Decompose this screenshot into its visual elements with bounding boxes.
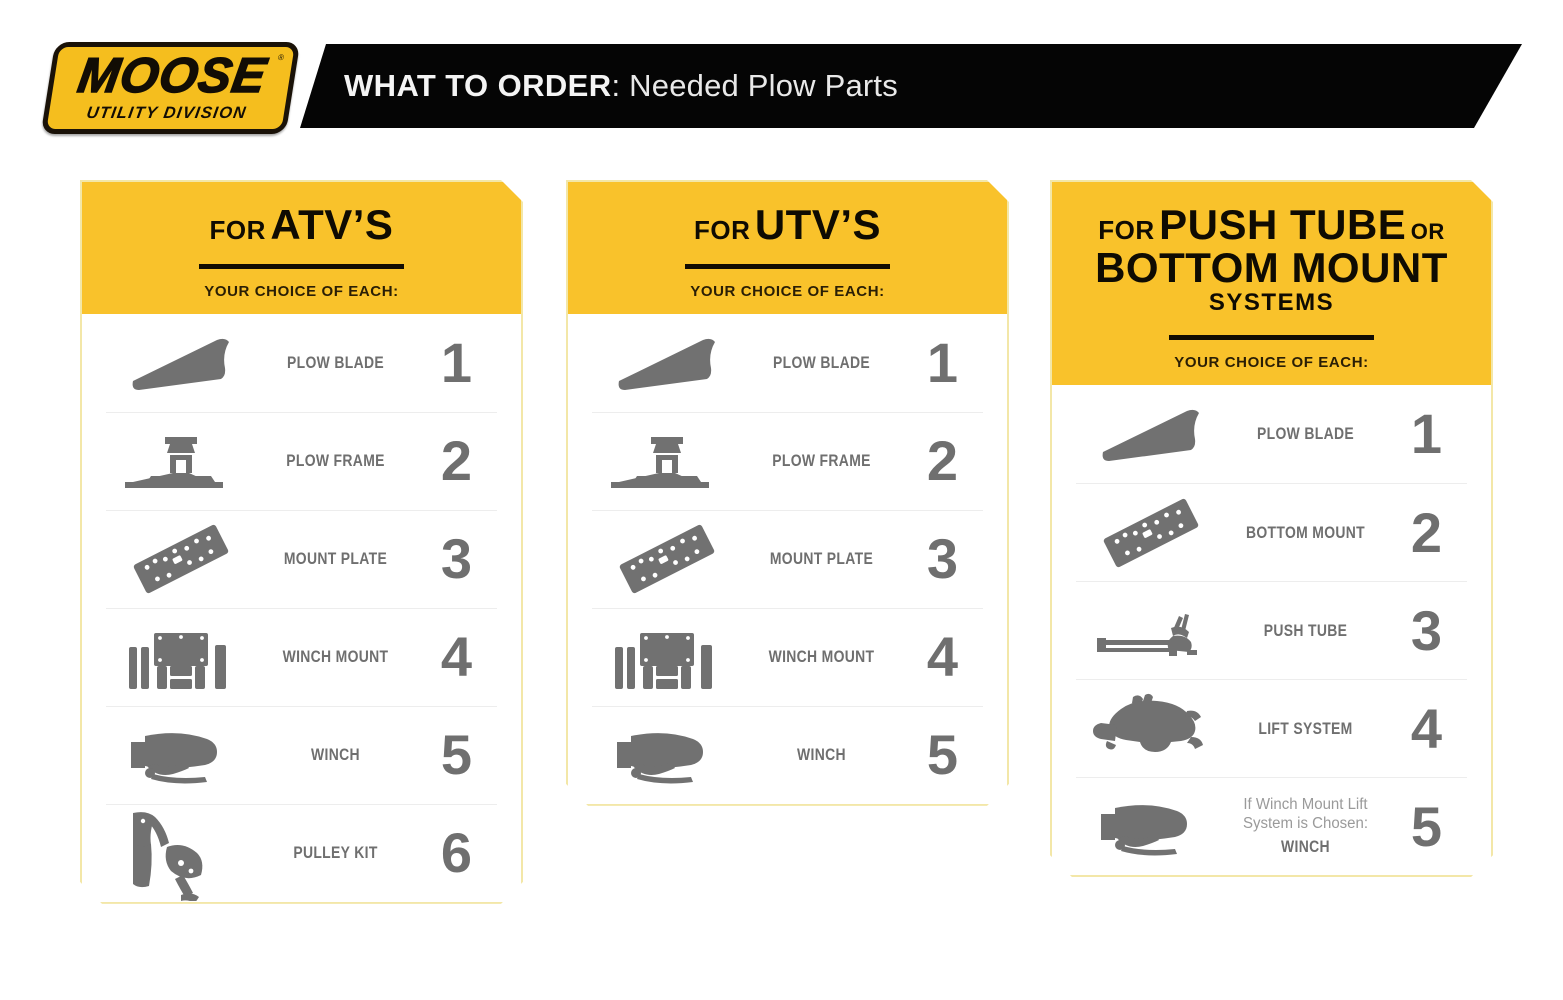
- list-item-label: PLOW BLADE: [1240, 424, 1370, 444]
- list-item-number: 3: [901, 531, 983, 587]
- list-item-note: If Winch Mount Lift System is Chosen:: [1229, 796, 1383, 833]
- card-atv-title-for: FOR: [210, 215, 266, 245]
- list-item-number: 2: [901, 433, 983, 489]
- card-push-title: FOR PUSH TUBE OR BOTTOM MOUNT SYSTEMS: [1070, 204, 1473, 315]
- list-item-label: PLOW BLADE: [756, 353, 886, 373]
- mount-plate-icon: [106, 522, 256, 596]
- list-item-label: LIFT SYSTEM: [1240, 719, 1370, 739]
- list-item-number: 2: [1385, 505, 1467, 561]
- list-item[interactable]: MOUNT PLATE 3: [106, 510, 497, 608]
- card-push-title-or: OR: [1411, 219, 1445, 244]
- card-push-subtitle: YOUR CHOICE OF EACH:: [1070, 354, 1473, 371]
- page-header: MOOSE UTILITY DIVISION ® WHAT TO ORDER: …: [0, 0, 1563, 150]
- list-item-number: 5: [415, 727, 497, 783]
- card-push-rows: PLOW BLADE 1 BOTTOM MOUNT 2 PUSH TUBE 3: [1052, 385, 1491, 875]
- list-item-number: 5: [901, 727, 983, 783]
- list-item-number: 2: [415, 433, 497, 489]
- plow-frame-icon: [106, 429, 256, 493]
- list-item-label: WINCH: [270, 745, 400, 765]
- header-banner-text: WHAT TO ORDER: Needed Plow Parts: [344, 68, 898, 104]
- list-item[interactable]: PLOW FRAME 2: [592, 412, 983, 510]
- list-item[interactable]: WINCH MOUNT 4: [592, 608, 983, 706]
- card-for-push-tube-bottom-mount: FOR PUSH TUBE OR BOTTOM MOUNT SYSTEMS YO…: [1050, 180, 1493, 877]
- plow-blade-icon: [1076, 403, 1226, 465]
- list-item[interactable]: PULLEY KIT 6: [106, 804, 497, 902]
- list-item-number: 5: [1385, 799, 1467, 855]
- list-item-number: 4: [901, 629, 983, 685]
- list-item-label: WINCH: [756, 745, 886, 765]
- header-title-rest: : Needed Plow Parts: [612, 68, 898, 103]
- winch-mount-icon: [106, 621, 256, 693]
- list-item[interactable]: BOTTOM MOUNT 2: [1076, 483, 1467, 581]
- push-tube-icon: [1076, 600, 1226, 662]
- card-for-utvs: FOR UTV’S YOUR CHOICE OF EACH: PLOW BLAD…: [566, 180, 1009, 806]
- header-banner: WHAT TO ORDER: Needed Plow Parts: [300, 44, 1522, 128]
- list-item[interactable]: PLOW BLADE 1: [106, 314, 497, 412]
- list-item-label-text: WINCH: [1281, 837, 1330, 856]
- list-item-number: 4: [415, 629, 497, 685]
- logo-division-name: UTILITY DIVISION: [85, 104, 248, 123]
- card-push-divider: [1169, 335, 1374, 340]
- winch-mount-icon: [592, 621, 742, 693]
- list-item-label: PLOW FRAME: [756, 451, 886, 471]
- card-push-header: FOR PUSH TUBE OR BOTTOM MOUNT SYSTEMS YO…: [1052, 182, 1491, 385]
- list-item-label: WINCH MOUNT: [756, 647, 886, 667]
- list-item[interactable]: If Winch Mount Lift System is Chosen: WI…: [1076, 777, 1467, 875]
- logo-brand-name: MOOSE: [75, 53, 270, 100]
- card-for-atvs: FOR ATV’S YOUR CHOICE OF EACH: PLOW BLAD…: [80, 180, 523, 904]
- list-item[interactable]: LIFT SYSTEM 4: [1076, 679, 1467, 777]
- list-item[interactable]: PLOW BLADE 1: [1076, 385, 1467, 483]
- list-item-number: 1: [1385, 406, 1467, 462]
- list-item[interactable]: PUSH TUBE 3: [1076, 581, 1467, 679]
- bottom-mount-icon: [1076, 494, 1226, 572]
- card-push-title-main2: BOTTOM MOUNT: [1095, 244, 1448, 291]
- card-atv-title-main: ATV’S: [270, 201, 393, 248]
- card-atv-header: FOR ATV’S YOUR CHOICE OF EACH:: [82, 182, 521, 314]
- list-item[interactable]: WINCH 5: [592, 706, 983, 804]
- card-atv-title: FOR ATV’S: [100, 204, 503, 247]
- list-item-label: PULLEY KIT: [270, 843, 400, 863]
- card-utv-title: FOR UTV’S: [586, 204, 989, 247]
- list-item-label: MOUNT PLATE: [756, 549, 886, 569]
- card-push-title-for: FOR: [1098, 215, 1154, 245]
- card-utv-title-for: FOR: [694, 215, 750, 245]
- list-item-number: 3: [1385, 603, 1467, 659]
- list-item-label: MOUNT PLATE: [270, 549, 400, 569]
- pulley-kit-icon: [106, 805, 256, 901]
- list-item[interactable]: PLOW FRAME 2: [106, 412, 497, 510]
- winch-icon: [592, 724, 742, 786]
- card-atv-rows: PLOW BLADE 1 PLOW FRAME 2 MOUNT PLATE 3: [82, 314, 521, 902]
- list-item[interactable]: PLOW BLADE 1: [592, 314, 983, 412]
- logo-text-group: MOOSE UTILITY DIVISION: [41, 42, 301, 134]
- list-item-label: If Winch Mount Lift System is Chosen: WI…: [1240, 796, 1370, 857]
- infographic-page: MOOSE UTILITY DIVISION ® WHAT TO ORDER: …: [0, 0, 1563, 1000]
- card-utv-subtitle: YOUR CHOICE OF EACH:: [586, 283, 989, 300]
- plow-blade-icon: [106, 332, 256, 394]
- card-utv-rows: PLOW BLADE 1 PLOW FRAME 2 MOUNT PLATE 3: [568, 314, 1007, 804]
- card-push-title-main: PUSH TUBE: [1159, 201, 1406, 248]
- mount-plate-icon: [592, 522, 742, 596]
- moose-utility-division-logo: MOOSE UTILITY DIVISION ®: [48, 42, 293, 134]
- card-utv-title-main: UTV’S: [755, 201, 881, 248]
- plow-blade-icon: [592, 332, 742, 394]
- list-item[interactable]: WINCH MOUNT 4: [106, 608, 497, 706]
- list-item-number: 1: [901, 335, 983, 391]
- list-item-label: BOTTOM MOUNT: [1240, 523, 1370, 543]
- list-item-number: 6: [415, 825, 497, 881]
- list-item[interactable]: MOUNT PLATE 3: [592, 510, 983, 608]
- list-item-label: PLOW BLADE: [270, 353, 400, 373]
- winch-icon: [106, 724, 256, 786]
- card-utv-divider: [685, 264, 890, 269]
- card-atv-subtitle: YOUR CHOICE OF EACH:: [100, 283, 503, 300]
- plow-frame-icon: [592, 429, 742, 493]
- winch-icon: [1076, 796, 1226, 858]
- header-title-bold: WHAT TO ORDER: [344, 68, 612, 103]
- list-item-number: 4: [1385, 701, 1467, 757]
- list-item-label: PUSH TUBE: [1240, 621, 1370, 641]
- card-push-title-systems: SYSTEMS: [1070, 291, 1473, 315]
- list-item-label: WINCH MOUNT: [270, 647, 400, 667]
- list-item-label: PLOW FRAME: [270, 451, 400, 471]
- list-item-number: 3: [415, 531, 497, 587]
- card-atv-divider: [199, 264, 404, 269]
- list-item[interactable]: WINCH 5: [106, 706, 497, 804]
- card-utv-header: FOR UTV’S YOUR CHOICE OF EACH:: [568, 182, 1007, 314]
- lift-system-icon: [1076, 691, 1226, 767]
- list-item-number: 1: [415, 335, 497, 391]
